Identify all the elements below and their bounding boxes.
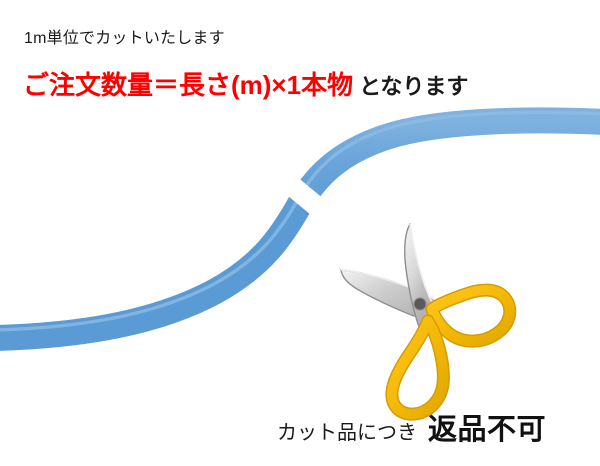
main-headline-emphasis: ご注文数量＝長さ(m)×1本物 [23, 70, 353, 100]
cut-notice-banner: 1m単位でカットいたします ご注文数量＝長さ(m)×1本物となります カット品に… [0, 0, 600, 466]
scissors-pivot-icon [414, 298, 426, 310]
scissors-handle-left [392, 321, 443, 414]
scissors-handle-right [432, 290, 510, 341]
footnote: カット品につき返品不可 [277, 414, 546, 447]
main-headline: ご注文数量＝長さ(m)×1本物となります [23, 70, 468, 101]
footnote-strong: 返品不可 [428, 414, 546, 446]
footnote-lead: カット品につき [277, 422, 417, 444]
scissors [341, 224, 510, 414]
note-line: 1m単位でカットいたします [24, 29, 225, 48]
main-headline-tail: となります [359, 74, 468, 99]
